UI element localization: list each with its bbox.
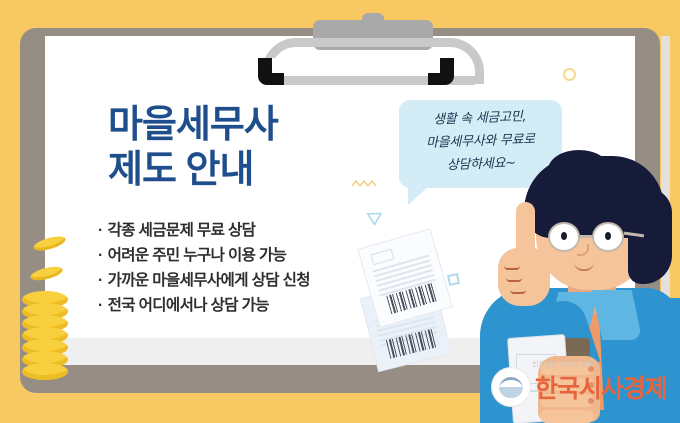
pointing-finger-icon — [516, 202, 535, 260]
page-title: 마을세무사 제도 안내 — [108, 103, 278, 193]
publisher-name: 한국시사경제 — [535, 369, 667, 405]
person-knuckle — [506, 278, 522, 282]
person-knuckle — [510, 290, 526, 294]
bullet-marker: · — [98, 272, 103, 289]
list-item: ·어려운 주민 누구나 이용 가능 — [98, 243, 310, 268]
list-item-label: 가까운 마을세무사에게 상담 신청 — [108, 272, 310, 289]
publisher-tagline: 신뢰받는 친숙한 정보 — [532, 359, 594, 369]
glasses-bridge — [580, 235, 592, 238]
clip-foot-inner-left — [272, 58, 284, 73]
person-finger — [540, 410, 594, 423]
person-eye — [605, 232, 611, 240]
list-item-label: 어려운 주민 누구나 이용 가능 — [108, 247, 287, 264]
person-hair-top — [548, 150, 610, 190]
circle-outline-icon — [563, 68, 576, 81]
zigzag-icon — [352, 180, 378, 187]
bullet-marker: · — [98, 222, 103, 239]
publisher-logo: 한국시사경제 신뢰받는 친숙한 정보 — [492, 368, 667, 406]
clip-nub — [362, 13, 384, 25]
clip-foot-inner-right — [428, 58, 440, 73]
list-item: ·전국 어디에서나 상담 가능 — [98, 293, 310, 318]
coin — [22, 363, 68, 380]
list-item-label: 전국 어디에서나 상담 가능 — [108, 297, 269, 314]
bullet-marker: · — [98, 297, 103, 314]
wave-emblem-icon — [492, 368, 530, 406]
document-header-box — [370, 249, 394, 266]
list-item: ·가까운 마을세무사에게 상담 신청 — [98, 268, 310, 293]
bullet-marker: · — [98, 247, 103, 264]
speech-bubble-tail — [408, 185, 430, 205]
list-item-label: 각종 세금문제 무료 상담 — [108, 222, 256, 239]
list-item: ·각종 세금문제 무료 상담 — [98, 218, 310, 243]
poster-canvas: 마을세무사 제도 안내 ·각종 세금문제 무료 상담 ·어려운 주민 누구나 이… — [0, 0, 680, 423]
feature-list: ·각종 세금문제 무료 상담 ·어려운 주민 누구나 이용 가능 ·가까운 마을… — [98, 218, 310, 318]
person-eye — [561, 232, 567, 240]
person-knuckle — [504, 266, 520, 270]
coin-stack — [22, 296, 68, 380]
